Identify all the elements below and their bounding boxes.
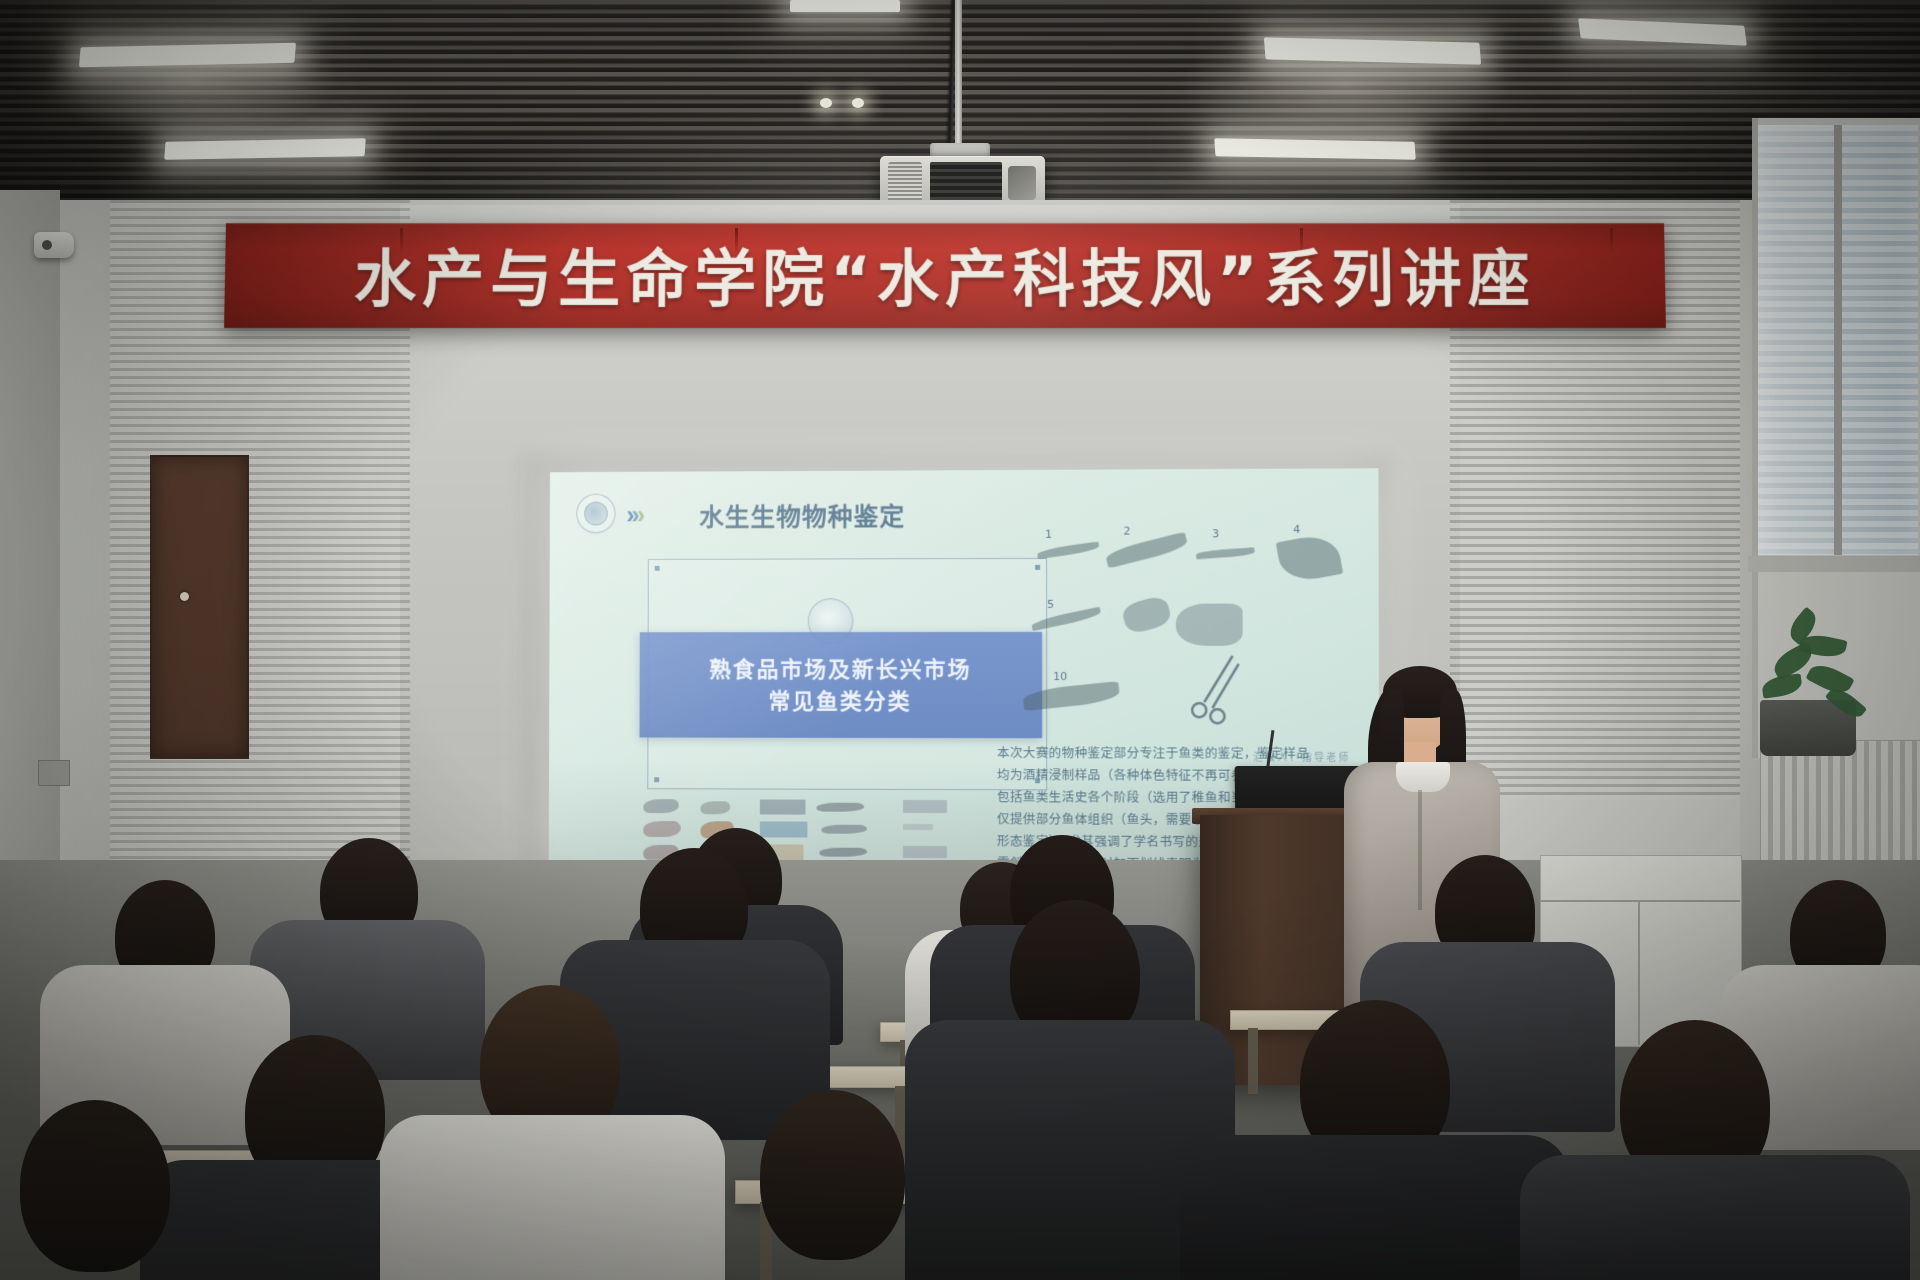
wall-plate [38, 760, 70, 786]
cabinet-seam [1540, 900, 1740, 902]
lecture-hall-photo: 水产与生命学院“水产科技风”系列讲座 ››› 水生生物物种鉴定 熟食品市场及新长… [0, 0, 1920, 1280]
fish-thumb [701, 801, 731, 814]
fish-thumb [643, 821, 681, 837]
specimen-number: 2 [1123, 525, 1130, 538]
ceiling-light-panel [1214, 138, 1416, 159]
frame-pin [1035, 565, 1040, 570]
fish-label-box [903, 800, 947, 813]
projector-mount-rod [955, 0, 962, 148]
fish-label-box [903, 846, 947, 858]
slide-section-title: 水生生物物种鉴定 [699, 497, 905, 534]
audience-shoulders [1180, 1135, 1570, 1280]
projector-lens [1008, 166, 1036, 200]
ceiling-light-panel [790, 0, 900, 12]
banner-text: 水产与生命学院“水产科技风”系列讲座 [234, 243, 1655, 317]
fish-thumb [819, 848, 867, 857]
university-seal-icon [576, 494, 615, 534]
radiator [1760, 740, 1920, 862]
specimen-number: 10 [1053, 670, 1067, 683]
window-mullion [1834, 125, 1842, 555]
ceiling-downlight [852, 98, 864, 108]
door-knob-icon[interactable] [180, 592, 189, 601]
speaker-jacket-zip [1418, 790, 1422, 910]
audience-head [760, 1090, 905, 1260]
slide-title-line1: 熟食品市场及新长兴市场 [640, 652, 1042, 684]
specimen-fish-tail [1276, 532, 1343, 584]
ceiling-downlight [820, 98, 832, 108]
fish-thumb [760, 821, 808, 837]
fish-label-box [903, 824, 933, 830]
fish-thumb [821, 825, 867, 834]
slide-title-line2: 常见鱼类分类 [640, 684, 1043, 716]
audience-shoulders [380, 1115, 725, 1280]
desk-leg [1248, 1028, 1258, 1094]
specimen-number: 3 [1212, 527, 1219, 540]
fish-thumb [816, 803, 864, 812]
specimen-number: 4 [1293, 523, 1300, 536]
projector-panel [930, 162, 1002, 202]
wall-sensor [34, 232, 74, 258]
slide-title-card: 熟食品市场及新长兴市场 常见鱼类分类 [640, 632, 1043, 738]
specimen-fish [1037, 541, 1100, 559]
audience-head [20, 1100, 170, 1272]
light-glow [40, 20, 340, 140]
specimen-fish [1104, 532, 1188, 569]
specimen-number: 1 [1045, 528, 1052, 541]
frame-pin [655, 566, 660, 571]
dissection-scissors-icon [1186, 650, 1247, 731]
specimen-head [1176, 604, 1243, 646]
ceiling-light-panel [164, 138, 366, 159]
specimen-head [1120, 594, 1173, 635]
fish-thumb [643, 799, 679, 813]
window-sill [1748, 556, 1920, 572]
paragraph-line: 本次大赛的物种鉴定部分专注于鱼类的鉴定，鉴定样品 [997, 742, 1373, 765]
side-door[interactable] [150, 455, 249, 759]
specimen-fish [1196, 547, 1255, 559]
frame-pin [654, 777, 659, 782]
chevron-right-icon: ››› [626, 501, 642, 530]
fish-thumb [760, 799, 806, 814]
wall-far-left [0, 190, 60, 910]
cabinet-seam [1638, 900, 1640, 1045]
specimen-number: 5 [1047, 598, 1054, 611]
speaker-collar [1396, 762, 1450, 792]
audience-shoulders [1520, 1155, 1910, 1280]
sensor-lens-icon [42, 240, 52, 250]
